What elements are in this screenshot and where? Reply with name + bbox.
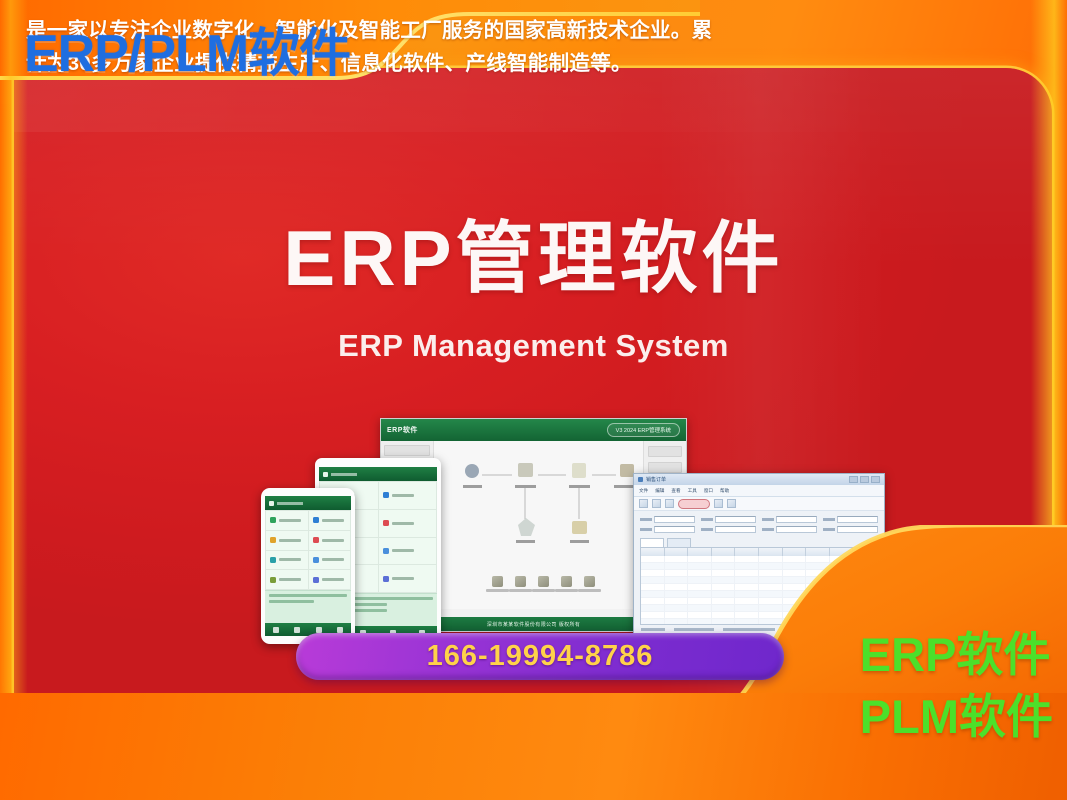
mobile-app-title	[277, 502, 303, 505]
phone-mockup	[261, 488, 355, 644]
dock-label	[578, 589, 601, 592]
poster-root: ERP/PLM软件 ERP管理软件 ERP Management System …	[0, 0, 1067, 800]
dock-icon	[584, 576, 595, 587]
mobile-menu-item[interactable]	[266, 551, 308, 570]
field-input[interactable]	[776, 516, 817, 523]
form-field[interactable]	[701, 526, 756, 533]
menu-item-icon	[270, 517, 276, 523]
right-rail-button[interactable]	[648, 462, 682, 473]
menu-item-icon	[270, 577, 276, 583]
menu-icon[interactable]	[269, 501, 274, 506]
mobile-app-header	[319, 467, 437, 481]
grid-row[interactable]	[641, 605, 877, 612]
dock-label	[555, 589, 578, 592]
field-input[interactable]	[654, 526, 695, 533]
app-statusbar-text: 深圳市某某软件股份有限公司 版权所有	[487, 621, 581, 628]
mobile-app-header	[265, 496, 351, 510]
keyword-block: ERP软件 PLM软件	[860, 624, 1053, 748]
field-input[interactable]	[837, 516, 878, 523]
menu-item[interactable]: 帮助	[720, 488, 729, 494]
form-title-text: 销售订单	[646, 476, 666, 483]
mobile-app-title	[331, 473, 357, 476]
dock-icon	[538, 576, 549, 587]
sidebar-tab[interactable]	[384, 445, 430, 456]
grid-row[interactable]	[641, 591, 877, 598]
menu-item-label	[322, 539, 344, 542]
menu-item-label	[322, 519, 344, 522]
phone-screen	[265, 496, 351, 636]
right-rail-button[interactable]	[648, 446, 682, 457]
window-controls[interactable]	[849, 476, 880, 483]
form-field[interactable]	[640, 526, 695, 533]
mobile-menu-item[interactable]	[309, 531, 351, 550]
highlight-pill	[678, 499, 710, 509]
mobile-menu-item[interactable]	[379, 510, 437, 537]
dock-item[interactable]	[578, 576, 601, 592]
field-label	[640, 518, 652, 521]
grid-row[interactable]	[641, 556, 877, 563]
toolbar-button[interactable]	[639, 499, 648, 508]
field-label	[701, 518, 713, 521]
form-tabstrip	[634, 535, 884, 547]
grid-row[interactable]	[641, 612, 877, 619]
grid-col	[806, 548, 830, 556]
dock-label	[532, 589, 555, 592]
dock-icon	[515, 576, 526, 587]
form-field[interactable]	[701, 516, 756, 523]
form-field[interactable]	[762, 516, 817, 523]
menu-item-icon	[383, 576, 389, 582]
form-tab-primary[interactable]	[640, 538, 664, 547]
form-toolbar	[634, 497, 884, 511]
banner-line	[269, 600, 314, 603]
nav-profile-icon[interactable]	[337, 627, 343, 633]
dock-icon	[492, 576, 503, 587]
menu-item[interactable]: 查看	[671, 488, 680, 494]
form-data-grid[interactable]	[640, 547, 878, 625]
field-input[interactable]	[715, 526, 756, 533]
grid-col	[830, 548, 854, 556]
grid-col	[641, 548, 665, 556]
field-input[interactable]	[715, 516, 756, 523]
mobile-menu-item[interactable]	[309, 511, 351, 530]
menu-item-icon	[313, 557, 319, 563]
field-label	[640, 528, 652, 531]
form-field[interactable]	[823, 526, 878, 533]
dock-item[interactable]	[555, 576, 578, 592]
app-dock	[486, 573, 601, 595]
menu-item-label	[279, 539, 301, 542]
mobile-menu-item[interactable]	[266, 511, 308, 530]
menu-item-icon	[313, 537, 319, 543]
menu-item[interactable]: 文件	[639, 488, 648, 494]
toolbar-button[interactable]	[665, 499, 674, 508]
form-fields	[634, 511, 884, 535]
menu-item-label	[322, 578, 344, 581]
dock-label	[509, 589, 532, 592]
grid-header-row	[641, 548, 877, 556]
field-label	[823, 528, 835, 531]
field-label	[762, 528, 774, 531]
field-label	[762, 518, 774, 521]
menu-item[interactable]: 工具	[688, 488, 697, 494]
menu-icon[interactable]	[323, 472, 328, 477]
field-label	[701, 528, 713, 531]
field-input[interactable]	[776, 526, 817, 533]
field-label	[823, 518, 835, 521]
close-icon[interactable]	[871, 476, 880, 483]
grid-row[interactable]	[641, 563, 877, 570]
grid-row[interactable]	[641, 598, 877, 605]
keyword-line-2: PLM软件	[860, 686, 1053, 748]
menu-item-icon	[270, 537, 276, 543]
form-field[interactable]	[640, 516, 695, 523]
workflow-canvas	[434, 441, 643, 609]
toolbar-button[interactable]	[652, 499, 661, 508]
grid-col	[735, 548, 759, 556]
banner-line	[269, 594, 347, 597]
summary-cell	[723, 628, 775, 631]
phone-number-text: 166-19994-8786	[427, 640, 654, 673]
dock-label	[486, 589, 509, 592]
grid-col	[688, 548, 712, 556]
mobile-menu-item[interactable]	[379, 538, 437, 565]
maximize-icon[interactable]	[860, 476, 869, 483]
menu-item-label	[392, 494, 414, 497]
form-titlebar: 销售订单	[634, 474, 884, 485]
mobile-menu-grid	[265, 510, 351, 590]
menu-item-label	[279, 578, 301, 581]
app-brand-logo: ERP软件	[387, 425, 418, 435]
menu-item-icon	[313, 517, 319, 523]
toolbar-button[interactable]	[727, 499, 736, 508]
device-mockup-cluster: ERP软件 V3 2024 ERP管理系统	[255, 418, 815, 668]
app-version-badge: V3 2024 ERP管理系统	[607, 423, 680, 437]
dock-item[interactable]	[486, 576, 509, 592]
summary-cell	[784, 628, 818, 631]
form-app-window: 销售订单 文件 编辑 查看 工具 窗口 帮助	[633, 473, 885, 650]
menu-item-icon	[270, 557, 276, 563]
menu-item[interactable]: 窗口	[704, 488, 713, 494]
menu-item-label	[322, 558, 344, 561]
summary-cell	[674, 628, 714, 631]
mobile-menu-item[interactable]	[309, 570, 351, 589]
summary-cell	[641, 628, 665, 631]
grid-col	[665, 548, 689, 556]
menu-item-icon	[383, 492, 389, 498]
nav-list-icon[interactable]	[294, 627, 300, 633]
form-menubar: 文件 编辑 查看 工具 窗口 帮助	[634, 485, 884, 497]
grid-row[interactable]	[641, 577, 877, 584]
nav-home-icon[interactable]	[273, 627, 279, 633]
mobile-menu-item[interactable]	[266, 531, 308, 550]
mobile-menu-item[interactable]	[379, 565, 437, 592]
dock-item[interactable]	[532, 576, 555, 592]
toolbar-button[interactable]	[714, 499, 723, 508]
menu-item-icon	[383, 548, 389, 554]
mobile-menu-item[interactable]	[379, 482, 437, 509]
keyword-line-1: ERP软件	[860, 624, 1053, 686]
form-app-icon	[638, 477, 643, 482]
form-field[interactable]	[823, 516, 878, 523]
form-tab-secondary[interactable]	[667, 538, 691, 547]
menu-item-label	[392, 549, 414, 552]
menu-item-label	[279, 519, 301, 522]
menu-item-label	[279, 558, 301, 561]
nav-chart-icon[interactable]	[316, 627, 322, 633]
menu-item-icon	[313, 577, 319, 583]
grid-col	[712, 548, 736, 556]
grid-col	[759, 548, 783, 556]
menu-item[interactable]: 编辑	[655, 488, 664, 494]
form-field[interactable]	[762, 526, 817, 533]
field-input[interactable]	[654, 516, 695, 523]
menu-item-label	[392, 577, 414, 580]
grid-row[interactable]	[641, 570, 877, 577]
page-title: ERP/PLM软件	[24, 11, 350, 86]
grid-col	[783, 548, 807, 556]
minimize-icon[interactable]	[849, 476, 858, 483]
field-input[interactable]	[837, 526, 878, 533]
dock-item[interactable]	[509, 576, 532, 592]
phone-number-pill[interactable]: 166-19994-8786	[296, 633, 784, 680]
grid-col	[853, 548, 877, 556]
menu-item-label	[392, 522, 414, 525]
menu-item-icon	[383, 520, 389, 526]
app-titlebar: ERP软件 V3 2024 ERP管理系统	[381, 419, 686, 441]
dock-icon	[561, 576, 572, 587]
mobile-menu-item[interactable]	[309, 551, 351, 570]
grid-row[interactable]	[641, 584, 877, 591]
mobile-data-banner	[265, 590, 351, 623]
mobile-menu-item[interactable]	[266, 570, 308, 589]
